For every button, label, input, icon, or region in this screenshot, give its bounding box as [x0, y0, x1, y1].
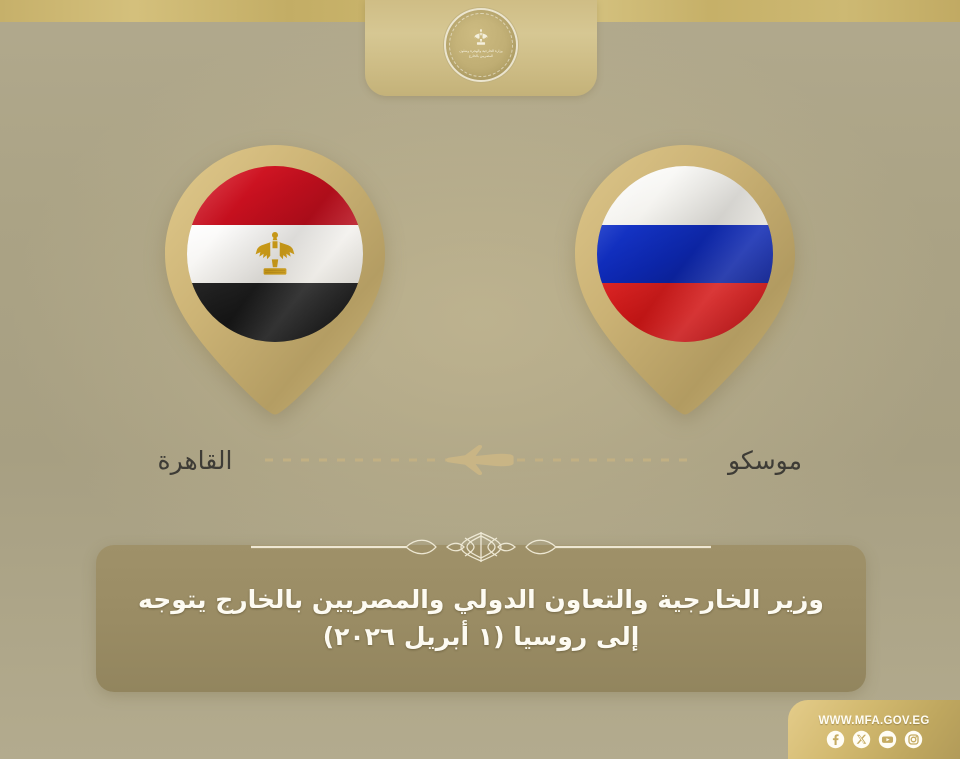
russia-flag — [597, 166, 773, 342]
destination-label: موسكو — [695, 446, 835, 475]
filigree-divider-icon — [251, 532, 711, 562]
route-row: موسكو القاهرة — [0, 437, 960, 483]
egypt-flag-pin — [163, 143, 387, 423]
origin-label: القاهرة — [125, 446, 265, 475]
poster-canvas: وزارة الخارجية والهجرة وشئون المصريين با… — [0, 0, 960, 759]
site-badge[interactable]: WWW.MFA.GOV.EG — [788, 700, 960, 759]
egypt-flag — [187, 166, 363, 342]
facebook-icon[interactable] — [826, 730, 845, 749]
eagle-of-saladin-icon — [472, 28, 490, 48]
youtube-icon[interactable] — [878, 730, 897, 749]
airplane-icon — [441, 443, 519, 477]
flight-path — [265, 445, 695, 475]
website-url[interactable]: WWW.MFA.GOV.EG — [818, 715, 929, 727]
emblem-panel: وزارة الخارجية والهجرة وشئون المصريين با… — [365, 0, 597, 96]
instagram-icon[interactable] — [904, 730, 923, 749]
flag-sheen — [187, 166, 363, 342]
headline-banner: وزير الخارجية والتعاون الدولي والمصريين … — [96, 545, 866, 692]
social-links-row — [826, 730, 923, 749]
flag-sheen — [597, 166, 773, 342]
russia-flag-pin — [573, 143, 797, 423]
x-twitter-icon[interactable] — [852, 730, 871, 749]
headline-text: وزير الخارجية والتعاون الدولي والمصريين … — [122, 581, 840, 655]
egypt-mfa-seal-icon: وزارة الخارجية والهجرة وشئون المصريين با… — [444, 8, 518, 82]
